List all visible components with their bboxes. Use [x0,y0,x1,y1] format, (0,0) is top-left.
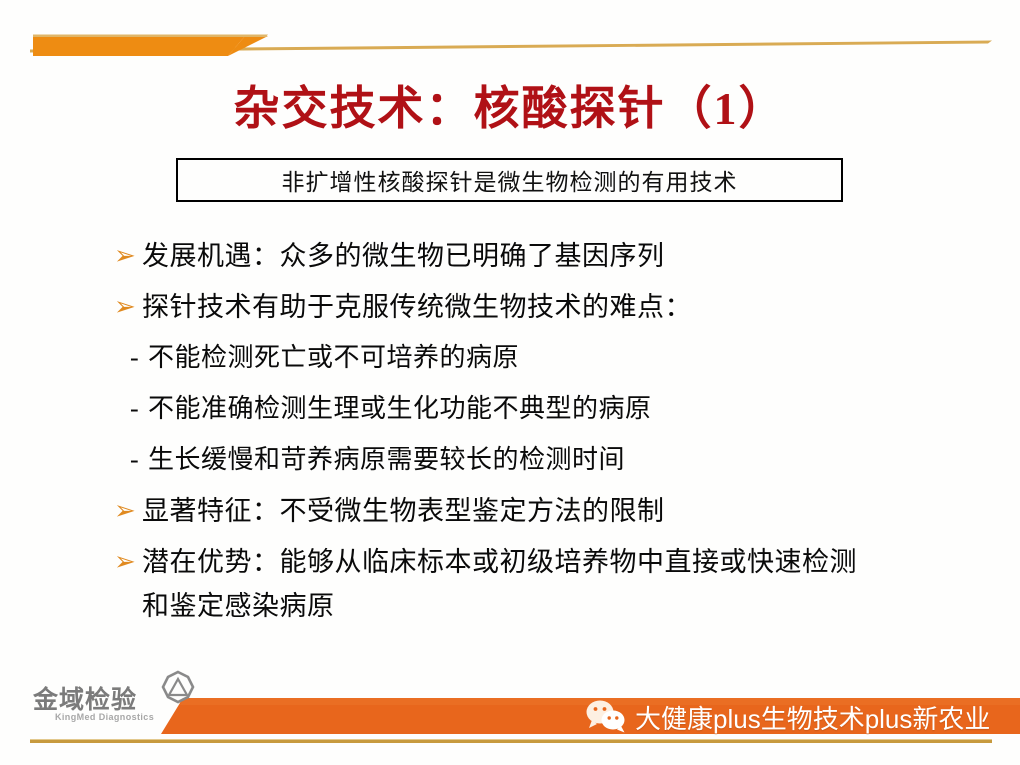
content-list: ➢ 发展机遇：众多的微生物已明确了基因序列 ➢ 探针技术有助于克服传统微生物技术… [112,234,972,635]
kingmed-hexagon-icon [160,670,196,711]
logo-chinese-name: 金域检验 [33,680,137,716]
arrow-bullet-icon: ➢ [112,285,142,329]
arrow-bullet-icon: ➢ [112,540,142,584]
presentation-slide: 杂交技术：核酸探针（1） 非扩增性核酸探针是微生物检测的有用技术 ➢ 发展机遇：… [0,0,1020,765]
sub-list-item-text: 生长缓慢和苛养病原需要较长的检测时间 [148,438,625,482]
list-item-text: 显著特征：不受微生物表型鉴定方法的限制 [142,489,665,533]
watermark-text: 大健康plus生物技术plus新农业 [635,699,990,736]
sub-list-item-text: 不能准确检测生理或生化功能不典型的病原 [148,387,652,431]
wechat-icon [585,699,627,738]
list-item-text: 发展机遇：众多的微生物已明确了基因序列 [142,234,665,278]
list-item: ➢ 显著特征：不受微生物表型鉴定方法的限制 [112,489,972,533]
list-item: ➢ 发展机遇：众多的微生物已明确了基因序列 [112,234,972,278]
arrow-bullet-icon: ➢ [112,234,142,278]
sub-list-item-text: 不能检测死亡或不可培养的病原 [148,336,519,380]
list-item: ➢ 探针技术有助于克服传统微生物技术的难点： [112,285,972,329]
sub-list-item: - 生长缓慢和苛养病原需要较长的检测时间 [112,438,972,482]
kingmed-logo: 金域检验 KingMed Diagnostics [33,676,173,726]
sub-list-item: - 不能检测死亡或不可培养的病原 [112,336,972,380]
slide-title: 杂交技术：核酸探针（1） [0,72,1020,138]
subtitle-text: 非扩增性核酸探针是微生物检测的有用技术 [282,163,738,197]
dash-bullet-icon: - [130,387,148,431]
dash-bullet-icon: - [130,438,148,482]
logo-english-name: KingMed Diagnostics [55,712,154,722]
wechat-watermark: 大健康plus生物技术plus新农业 [585,697,990,737]
dash-bullet-icon: - [130,336,148,380]
arrow-bullet-icon: ➢ [112,489,142,533]
subtitle-box: 非扩增性核酸探针是微生物检测的有用技术 [176,158,843,202]
sub-list-item: - 不能准确检测生理或生化功能不典型的病原 [112,387,972,431]
top-decoration-bar [0,0,1020,70]
list-item-text: 探针技术有助于克服传统微生物技术的难点： [142,285,692,329]
list-item-text: 潜在优势：能够从临床标本或初级培养物中直接或快速检测 和鉴定感染病原 [142,540,857,628]
list-item: ➢ 潜在优势：能够从临床标本或初级培养物中直接或快速检测 和鉴定感染病原 [112,540,972,628]
